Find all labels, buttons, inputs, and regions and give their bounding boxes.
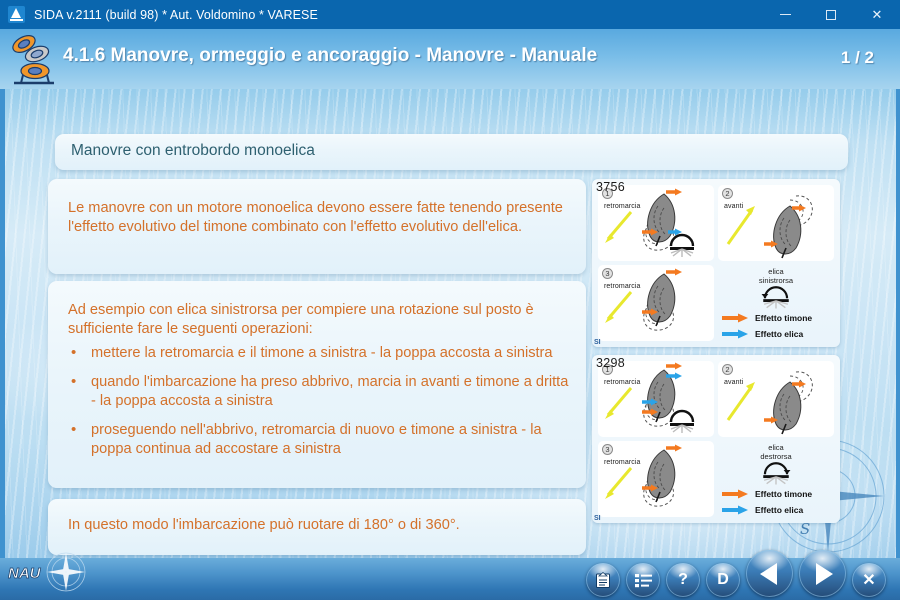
legend-rudder-effect: Effetto timone (722, 313, 812, 323)
lesson-header: 4.1.6 Manovre, ormeggio e ancoraggio - M… (0, 29, 900, 89)
diagram-legend: elica sinistrorsa (718, 265, 834, 341)
window-title: SIDA v.2111 (build 98) * Aut. Voldomino … (34, 8, 318, 22)
previous-icon (760, 563, 777, 585)
close-button[interactable]: ✕ (854, 0, 900, 29)
illustration-panel-right-prop[interactable]: 3298 SI 1 retromarcia (592, 355, 840, 523)
page-counter: 1 / 2 (841, 48, 874, 68)
previous-button[interactable] (746, 550, 793, 597)
boat-diagram (718, 361, 834, 437)
intro-text: Le manovre con un motore monoelica devon… (68, 199, 568, 237)
list-item: quando l'imbarcazione ha preso abbrivo, … (68, 373, 573, 411)
rudder-arrow-icon (722, 313, 748, 323)
list-item: proseguendo nell'abbrivo, retromarcia di… (68, 421, 573, 459)
legend-label: Effetto elica (755, 329, 803, 339)
next-button[interactable] (799, 550, 846, 597)
sida-discs-logo (8, 30, 60, 88)
document-button[interactable] (586, 563, 620, 597)
diagram-step-3: 3 retromarcia (598, 441, 714, 517)
boat-diagram (598, 185, 714, 261)
diagram-step-2: 2 avanti (718, 361, 834, 437)
final-text: In questo modo l'imbarcazione può ruotar… (68, 516, 568, 535)
sailboat-icon (8, 6, 25, 23)
subtitle-text: Manovre con entrobordo monoelica (71, 142, 315, 160)
window-titlebar: SIDA v.2111 (build 98) * Aut. Voldomino … (0, 0, 900, 29)
help-button[interactable]: ? (666, 563, 700, 597)
boat-diagram (598, 441, 714, 517)
legend-label: Effetto timone (755, 489, 812, 499)
dictionary-button[interactable]: D (706, 563, 740, 597)
maximize-button[interactable] (808, 0, 854, 29)
naui-logo-text: NAU (8, 565, 42, 582)
legend-label: Effetto timone (755, 313, 812, 323)
close-lesson-button[interactable]: ✕ (852, 563, 886, 597)
steps-intro-text: Ad esempio con elica sinistrorsa per com… (68, 301, 568, 339)
final-card: In questo modo l'imbarcazione può ruotar… (48, 499, 586, 555)
illustration-si-tag: SI (594, 515, 601, 522)
propeller-arrow-icon (722, 329, 748, 339)
propeller-icon (718, 459, 834, 493)
steps-card: Ad esempio con elica sinistrorsa per com… (48, 281, 586, 488)
legend-propeller-effect: Effetto elica (722, 505, 803, 515)
propeller-icon (718, 283, 834, 317)
page-title: 4.1.6 Manovre, ormeggio e ancoraggio - M… (63, 45, 597, 67)
minimize-button[interactable] (762, 0, 808, 29)
list-button[interactable] (626, 563, 660, 597)
rudder-arrow-icon (722, 489, 748, 499)
steps-list: mettere la retromarcia e il timone a sin… (68, 344, 573, 469)
next-icon (816, 563, 833, 585)
diagram-step-3: 3 retromarcia (598, 265, 714, 341)
diagram-legend: elica destrorsa (718, 441, 834, 517)
illustration-id: 3298 (596, 356, 625, 370)
intro-card: Le manovre con un motore monoelica devon… (48, 179, 586, 274)
boat-diagram (718, 185, 834, 261)
boat-diagram (598, 361, 714, 437)
list-icon (635, 573, 652, 588)
diagram-step-2: 2 avanti (718, 185, 834, 261)
window-controls: ✕ (762, 0, 900, 29)
subtitle-card: Manovre con entrobordo monoelica (55, 134, 848, 170)
illustration-id: 3756 (596, 180, 625, 194)
boat-diagram (598, 265, 714, 341)
nav-toolbar: ? D ✕ (586, 550, 886, 597)
document-icon (595, 572, 611, 589)
diagram-step-1: 1 retromarcia (598, 185, 714, 261)
lesson-stage: S 4.1.6 Manovre, ormeggio e ancoraggio -… (0, 29, 900, 600)
legend-rudder-effect: Effetto timone (722, 489, 812, 499)
diagram-step-1: 1 retromarcia (598, 361, 714, 437)
list-item: mettere la retromarcia e il timone a sin… (68, 344, 573, 363)
naui-logo: NAU (4, 552, 112, 596)
illustration-panel-left-prop[interactable]: 3756 SI 1 retromarcia (592, 179, 840, 347)
legend-label: Effetto elica (755, 505, 803, 515)
illustration-si-tag: SI (594, 339, 601, 346)
legend-propeller-effect: Effetto elica (722, 329, 803, 339)
propeller-arrow-icon (722, 505, 748, 515)
